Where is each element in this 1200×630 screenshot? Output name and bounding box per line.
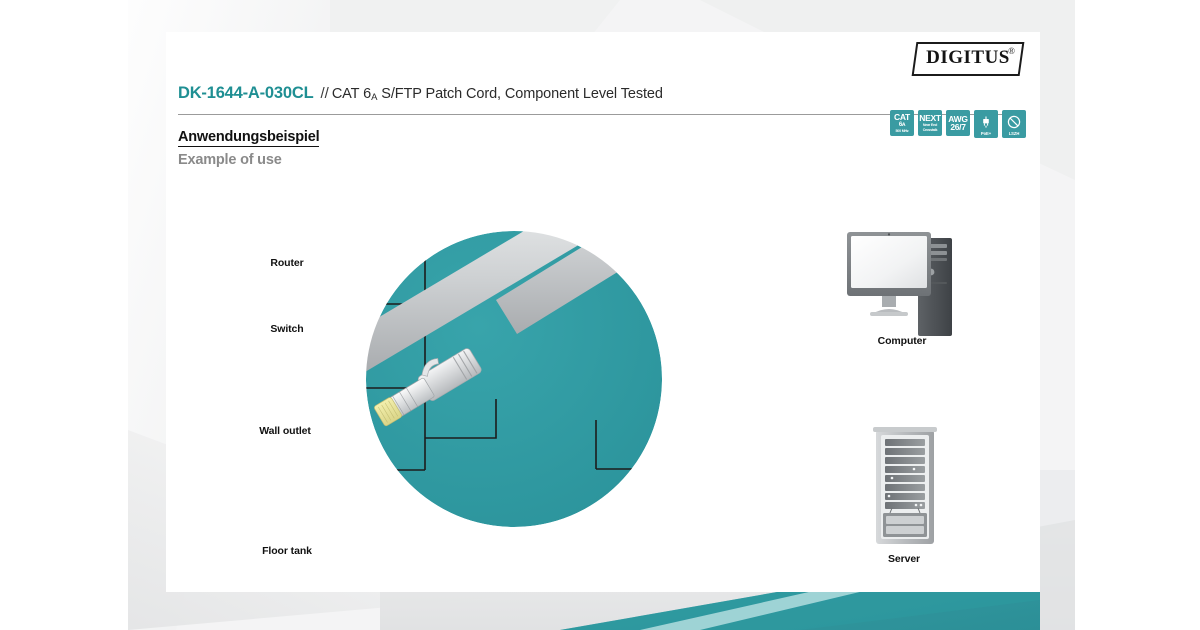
label-server: Server <box>888 553 920 565</box>
awg-badge: AWG 26/7 <box>946 110 970 136</box>
registered-trademark-icon: ® <box>1008 46 1015 56</box>
lszh-badge: LSZH <box>1002 110 1026 138</box>
product-description: CAT 6A S/FTP Patch Cord, Component Level… <box>332 86 663 102</box>
label-wall-outlet: Wall outlet <box>259 425 311 437</box>
label-switch: Switch <box>270 323 303 335</box>
application-diagram: Router Switch Wall outlet Floor tank Com… <box>166 182 1040 582</box>
next-badge: NEXT Near End Crosstalk <box>918 110 942 136</box>
poe-icon <box>980 112 992 131</box>
lszh-no-halogen-icon <box>1007 112 1021 131</box>
description-subscript: A <box>371 92 377 103</box>
poe-badge-caption: PoE+ <box>981 131 991 138</box>
product-sku: DK-1644-A-030CL <box>178 84 313 103</box>
label-computer: Computer <box>878 335 927 347</box>
cat6a-badge-line2: 6ᴀ <box>899 122 905 128</box>
next-badge-line2: Near End <box>923 123 937 127</box>
heading-de: Anwendungsbeispiel <box>178 129 319 147</box>
heading-en: Example of use <box>178 152 319 168</box>
next-badge-line1: NEXT <box>919 114 940 123</box>
poe-badge: PoE+ <box>974 110 998 138</box>
next-badge-line3: Crosstalk <box>923 128 938 132</box>
digitus-logo: DIGITUS ® <box>914 42 1022 76</box>
cat6a-badge-line3: 500 MHz <box>896 129 909 133</box>
awg-badge-line2: 26/7 <box>950 123 965 132</box>
feature-badges: CAT 6ᴀ 500 MHz NEXT Near End Crosstalk A… <box>890 110 1026 138</box>
logo-wordmark: DIGITUS <box>914 46 1022 70</box>
cat6a-badge-line1: CAT <box>894 113 910 122</box>
description-post: S/FTP Patch Cord, Component Level Tested <box>377 86 663 102</box>
label-router: Router <box>270 257 303 269</box>
lszh-badge-caption: LSZH <box>1009 131 1020 138</box>
cat6a-badge: CAT 6ᴀ 500 MHz <box>890 110 914 136</box>
product-sheet-card: DIGITUS ® DK-1644-A-030CL//CAT 6A S/FTP … <box>166 32 1040 592</box>
description-pre: CAT 6 <box>332 86 371 102</box>
label-floor-tank: Floor tank <box>262 545 312 557</box>
section-headings: Anwendungsbeispiel Example of use <box>178 128 319 168</box>
server-device <box>873 427 937 544</box>
title-separator: // <box>313 85 331 102</box>
